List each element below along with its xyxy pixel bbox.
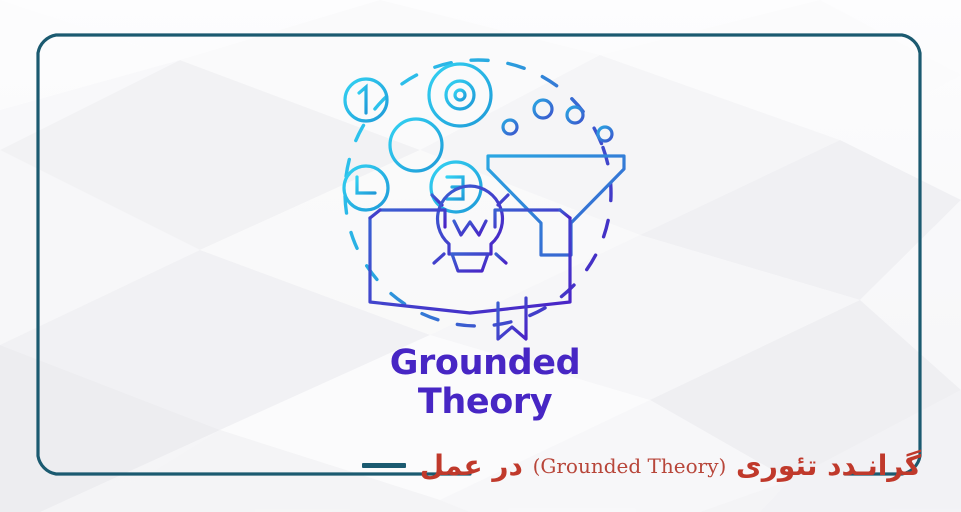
caption-latin-paren: (Grounded Theory) (533, 454, 727, 478)
funnel-pin-4 (598, 127, 612, 141)
slide-canvas: Grounded Theory گرانـدد تئوری (Grounded … (0, 0, 961, 512)
wordmark-line-2: Theory (330, 383, 640, 422)
caption-strip: گرانـدد تئوری (Grounded Theory) در عمل (376, 440, 921, 490)
cycle-node-4 (344, 166, 388, 210)
cycle-label-4 (357, 176, 375, 202)
caption-persian-right: گرانـدد تئوری (736, 449, 921, 482)
caption-text: گرانـدد تئوری (Grounded Theory) در عمل (420, 449, 921, 482)
cycle-label-1 (359, 87, 374, 113)
lightbulb-open-book-icon (370, 177, 570, 339)
funnel-pin-2 (534, 100, 552, 118)
wordmark: Grounded Theory (330, 344, 640, 422)
wordmark-line-1: Grounded (330, 344, 640, 383)
funnel-pin-1 (503, 120, 517, 134)
bookmark-ribbon-icon (498, 298, 526, 339)
grounded-theory-illustration (330, 55, 640, 345)
funnel-pin-3 (567, 107, 583, 123)
caption-persian-left: در عمل (420, 449, 523, 482)
caption-dash-rule (362, 463, 406, 468)
